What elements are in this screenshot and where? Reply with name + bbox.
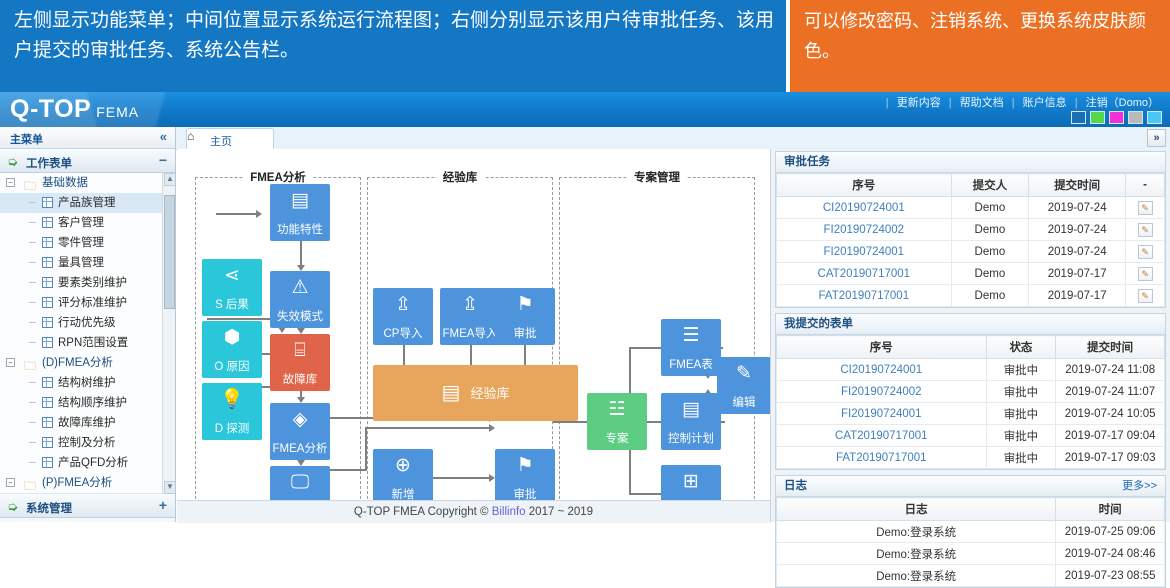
sidebar-item-label: 零件管理 [58,233,104,253]
edit-icon[interactable]: ✎ [1138,289,1153,303]
grid-icon [42,217,53,228]
arrow [629,347,661,349]
tree-connector [29,302,36,303]
cell-id[interactable]: CI20190724001 [777,359,987,381]
plus-icon: ⊕ [373,456,433,475]
expander-icon[interactable]: − [6,358,15,367]
arrow [300,241,302,265]
grid-icon [42,297,53,308]
tree-connector [29,342,36,343]
arrow [429,477,489,479]
theme-swatch-cyan[interactable] [1147,111,1162,124]
expander-icon[interactable]: − [6,478,15,487]
sidebar-item-label: 结构树维护 [58,373,116,393]
grid-icon [42,397,53,408]
sidebar-item-label: RPN范围设置 [58,333,128,353]
cell-action[interactable]: ✎ [1126,263,1165,285]
sidebar-group-toggle[interactable]: − [159,152,167,168]
edit-icon[interactable]: ✎ [1138,245,1153,259]
flow-box-label: D 探测 [202,423,262,436]
table-row[interactable]: FI20190724001 Demo 2019-07-24 ✎ [777,241,1165,263]
flow-box-project[interactable]: ☳ 专案 [587,393,647,450]
flow-box-fault-library[interactable]: ⌸ 故障库 [270,334,330,391]
flow-box-label: O 原因 [202,361,262,374]
cell-time: 2019-07-24 10:05 [1056,403,1165,425]
flag-icon: ⚑ [495,456,555,475]
sidebar-item-structure-order[interactable]: 结构顺序维护 [0,393,175,413]
flag-icon: ⚑ [495,295,555,314]
arrow [470,345,472,365]
flow-box-label: 故障库 [270,374,330,387]
flow-box-label: 专案 [587,433,647,446]
sidebar-group-label: 系统管理 [26,500,72,516]
column-header-id: 序号 [777,336,987,359]
flow-box-occurrence[interactable]: ⬢ O 原因 [202,321,262,378]
import-icon: ⇫ [440,295,500,314]
annotation-banner-right: 可以修改密码、注销系统、更换系统皮肤颜色。 [790,0,1170,92]
cell-submitter: Demo [951,197,1029,219]
scroll-up-icon[interactable]: ▲ [164,173,175,186]
footer: Q-TOP FMEA Copyright © Billinfo 2017 ~ 2… [177,500,770,523]
footer-prefix: Q-TOP FMEA Copyright © [354,506,492,518]
column-header-time: 时间 [1056,498,1165,521]
flow-box-label: 审批 [495,328,555,341]
flow-box-label: 控制计划 [661,433,721,446]
grid-icon [42,197,53,208]
sidebar-item-part[interactable]: 零件管理 [0,233,175,253]
flow-box-cp-import[interactable]: ⇫ CP导入 [373,288,433,345]
cell-time: 2019-07-24 [1029,197,1126,219]
tree-connector [29,382,36,383]
cell-id[interactable]: FI20190724002 [777,381,987,403]
flow-box-label: 编辑 [717,397,771,410]
approval-tasks-table: 序号 提交人 提交时间 - CI20190724001 Demo 2019-07… [776,173,1165,307]
cell-id[interactable]: FI20190724002 [777,219,952,241]
bus-icon: ▤ [270,191,330,210]
table-row[interactable]: CI20190724001 Demo 2019-07-24 ✎ [777,197,1165,219]
table-row[interactable]: FAT20190717001 Demo 2019-07-17 ✎ [777,285,1165,307]
tree-connector [29,242,36,243]
header-links: | 更新内容 | 帮助文档 | 账户信息 | 注销（Domo） [884,94,1162,110]
sidebar-item-score-standard[interactable]: 评分标准维护 [0,293,175,313]
edit-icon[interactable]: ✎ [1138,201,1153,215]
arrow [553,421,587,423]
panel-header: 审批任务 [776,152,1165,173]
arrow-folder-icon: ➭ [7,499,18,515]
cell-time: 2019-07-17 [1029,285,1126,307]
flow-box-label: CP导入 [373,328,433,341]
sitemap-icon: ⊞ [661,472,721,491]
cell-log-text: Demo:登录系统 [777,565,1056,587]
table-row[interactable]: CAT20190717001 审批中 2019-07-17 09:04 [777,425,1165,447]
screen-icon: 🖵 [270,473,330,492]
clipboard-icon: ▤ [661,400,721,419]
cell-action[interactable]: ✎ [1126,219,1165,241]
submitted-forms-table: 序号 状态 提交时间 CI20190724001 审批中 2019-07-24 … [776,335,1165,469]
grid-icon [42,437,53,448]
arrow [629,493,661,495]
sidebar-collapse-icon[interactable]: « [160,129,167,144]
log-more-link[interactable]: 更多>> [1122,476,1157,496]
table-row: Demo:登录系统 2019-07-23 08:55 [777,565,1165,587]
sidebar-item-label: 产品族管理 [58,193,116,213]
lane-title-experience-library: 经验库 [437,169,484,185]
cell-time: 2019-07-24 11:07 [1056,381,1165,403]
theme-swatch-gray[interactable] [1128,111,1143,124]
cell-id[interactable]: FAT20190717001 [777,447,987,469]
tree-node-pfmea[interactable]: − 🗀 (P)FMEA分析 [0,473,175,493]
cell-log-text: Demo:登录系统 [777,521,1056,543]
grid-icon [42,277,53,288]
table-row[interactable]: CAT20190717001 Demo 2019-07-17 ✎ [777,263,1165,285]
tree-connector [29,402,36,403]
lane-title-fmea-analysis: FMEA分析 [244,169,312,185]
cell-time: 2019-07-17 [1029,263,1126,285]
table-header-row: 序号 状态 提交时间 [777,336,1165,359]
cell-status: 审批中 [986,381,1056,403]
arrow [365,427,367,471]
edit-icon[interactable]: ✎ [1138,267,1153,281]
sidebar-item-label: 控制及分析 [58,433,116,453]
main-menu-header: 主菜单 « [0,127,176,149]
cell-status: 审批中 [986,425,1056,447]
folder-icon: 🗀 [24,476,36,494]
table-row[interactable]: FI20190724002 Demo 2019-07-24 ✎ [777,219,1165,241]
log-panel: 日志 更多>> 日志 时间 Demo:登录系统 2019-07-25 09:06 [775,475,1166,588]
panel-title: 日志 [784,476,807,496]
link-separator: | [1012,97,1015,109]
share-icon: ⋖ [202,266,262,285]
link-separator: | [949,97,952,109]
flow-box-failure-mode[interactable]: ⚠ 失效模式 [270,271,330,328]
cell-action[interactable]: ✎ [1126,197,1165,219]
sidebar-item-element-category[interactable]: 要素类别维护 [0,273,175,293]
application-window: 左侧显示功能菜单；中间位置显示系统运行流程图；右侧分别显示该用户待审批任务、该用… [0,0,1170,522]
sidebar-item-label: 故障库维护 [58,413,116,433]
list-icon: ☰ [661,326,721,345]
flow-box-fmea-analysis[interactable]: ◈ FMEA分析 [270,403,330,460]
cell-time: 2019-07-24 [1029,219,1126,241]
sidebar-item-action-priority[interactable]: 行动优先级 [0,313,175,333]
profile-icon: ☳ [587,400,647,419]
cell-time: 2019-07-24 [1029,241,1126,263]
theme-swatch-green[interactable] [1090,111,1105,124]
sidebar-scrollbar[interactable]: ▲ ▼ [162,173,175,494]
grid-icon [42,337,53,348]
cell-time: 2019-07-23 08:55 [1056,565,1165,587]
log-table: 日志 时间 Demo:登录系统 2019-07-25 09:06 Demo:登录… [776,497,1165,587]
link-separator: | [1075,97,1078,109]
link-account-info[interactable]: 账户信息 [1023,97,1067,109]
cell-log-text: Demo:登录系统 [777,543,1056,565]
warning-icon: ⚠ [270,278,330,297]
cell-action[interactable]: ✎ [1126,285,1165,307]
sidebar-item-product-family[interactable]: 产品族管理 [0,193,175,213]
column-header-id: 序号 [777,174,952,197]
logo-text: Q-TOP [10,95,91,123]
cell-id[interactable]: CAT20190717001 [777,263,952,285]
database-icon: ▤ [442,384,461,403]
tree-node-dfmea[interactable]: − 🗀 (D)FMEA分析 [0,353,175,373]
flow-box-label: 经验库 [470,387,509,400]
panel-header: 我提交的表单 [776,314,1165,335]
cell-time: 2019-07-25 09:06 [1056,521,1165,543]
table-row[interactable]: FAT20190717001 审批中 2019-07-17 09:03 [777,447,1165,469]
sidebar-item-label: 量具管理 [58,253,104,273]
flow-box-fmea-table[interactable]: ☰ FMEA表 [661,319,721,376]
bulb-icon: 💡 [202,390,262,409]
tree-connector [29,462,36,463]
column-header-time: 提交时间 [1056,336,1165,359]
cell-id[interactable]: FI20190724001 [777,403,987,425]
sidebar-item-control-analysis[interactable]: 控制及分析 [0,433,175,453]
sidebar-group-system-management[interactable]: ➭ 系统管理 + [0,494,175,518]
cell-action[interactable]: ✎ [1126,241,1165,263]
arrow-head [256,210,262,218]
tree-connector [29,422,36,423]
cell-id[interactable]: CAT20190717001 [777,425,987,447]
sidebar-item-rpn-range[interactable]: RPN范围设置 [0,333,175,353]
tree-connector [29,282,36,283]
sidebar-item-product-qfd[interactable]: 产品QFD分析 [0,453,175,473]
table-header-row: 序号 提交人 提交时间 - [777,174,1165,197]
panel-title: 我提交的表单 [784,314,853,334]
tree-connector [29,222,36,223]
cell-id[interactable]: FAT20190717001 [777,285,952,307]
panel-title: 审批任务 [784,152,830,172]
flow-box-add[interactable]: ⊕ 新增 [373,449,433,506]
tree-connector [29,262,36,263]
main-menu-title: 主菜单 [10,131,43,147]
submitted-forms-panel: 我提交的表单 序号 状态 提交时间 CI20190724001 审批中 2019… [775,313,1166,470]
flow-box-edit[interactable]: ✎ 编辑 [717,357,771,414]
flow-box-label: S 后果 [202,299,262,312]
flow-box-label: 失效模式 [270,311,330,324]
cell-id[interactable]: FI20190724001 [777,241,952,263]
theme-swatch-blue-dark[interactable] [1071,111,1086,124]
theme-swatch-magenta[interactable] [1109,111,1124,124]
flow-diagram: FMEA分析 经验库 专案管理 [177,149,771,522]
arrow [403,345,405,365]
table-row: Demo:登录系统 2019-07-24 08:46 [777,543,1165,565]
tree-connector [29,322,36,323]
panel-header: 日志 更多>> [776,476,1165,497]
import-icon: ⇫ [373,295,433,314]
column-header-status: 状态 [986,336,1056,359]
grid-icon [42,317,53,328]
scrollbar-thumb[interactable] [164,195,175,309]
annotation-banner-left: 左侧显示功能菜单；中间位置显示系统运行流程图；右侧分别显示该用户待审批任务、该用… [0,0,786,92]
cell-submitter: Demo [951,285,1029,307]
cell-time: 2019-07-17 09:03 [1056,447,1165,469]
link-updates[interactable]: 更新内容 [897,97,941,109]
tree-connector [29,442,36,443]
cell-time: 2019-07-17 09:04 [1056,425,1165,447]
flow-box-fmea-import[interactable]: ⇫ FMEA导入 [440,288,500,345]
sidebar-item-label: 行动优先级 [58,313,116,333]
layers-icon: ◈ [270,410,330,429]
bank-icon: ⌸ [270,341,330,360]
flow-box-severity[interactable]: ⋖ S 后果 [202,259,262,316]
cell-status: 审批中 [986,403,1056,425]
sidebar-item-structure-tree[interactable]: 结构树维护 [0,373,175,393]
tree-node-label: (P)FMEA分析 [42,473,112,493]
flow-box-control-plan[interactable]: ▤ 控制计划 [661,393,721,450]
cell-time: 2019-07-24 08:46 [1056,543,1165,565]
edit-icon[interactable]: ✎ [1138,223,1153,237]
tab-home-label: 主页 [210,133,232,149]
app-logo: Q-TOPFEMA [10,95,139,124]
footer-suffix: 2017 ~ 2019 [526,506,593,518]
sidebar-item-customer[interactable]: 客户管理 [0,213,175,233]
flow-box-detection[interactable]: 💡 D 探测 [202,383,262,440]
sidebar: ➭ 工作表单 − − 🗀 基础数据 产品族管理 客户管理 [0,149,176,522]
sidebar-item-label: 产品QFD分析 [58,453,128,473]
grid-icon [42,417,53,428]
cell-submitter: Demo [951,219,1029,241]
arrow [216,213,256,215]
arrow [524,345,526,365]
tree-connector [29,202,36,203]
table-row[interactable]: FI20190724002 审批中 2019-07-24 11:07 [777,381,1165,403]
cell-id[interactable]: CI20190724001 [777,197,952,219]
flow-box-approval-top[interactable]: ⚑ 审批 [495,288,555,345]
arrow-folder-icon: ➭ [7,154,18,170]
column-header-log: 日志 [777,498,1056,521]
cell-time: 2019-07-24 11:08 [1056,359,1165,381]
flow-box-label: 功能特性 [270,224,330,237]
grid-icon [42,257,53,268]
sidebar-group-label: 工作表单 [26,155,72,171]
sidebar-item-gauge[interactable]: 量具管理 [0,253,175,273]
scroll-down-icon[interactable]: ▼ [164,481,175,494]
sidebar-group-toggle[interactable]: + [159,497,167,513]
flow-box-functional-characteristic[interactable]: ▤ 功能特性 [270,184,330,241]
pencil-icon: ✎ [717,364,771,383]
grid-icon [42,237,53,248]
flow-box-label: FMEA表 [661,359,721,372]
cube-icon: ⬢ [202,328,262,347]
sidebar-item-label: 客户管理 [58,213,104,233]
right-panel-expand-icon[interactable]: » [1147,129,1166,147]
flow-box-experience-library[interactable]: ▤ 经验库 [373,365,578,421]
grid-icon [42,457,53,468]
lane-project-management [559,177,755,504]
table-row[interactable]: FI20190724001 审批中 2019-07-24 10:05 [777,403,1165,425]
tree-node-label: 基础数据 [42,173,88,193]
right-panel: 审批任务 序号 提交人 提交时间 - CI20190724001 Demo 20… [771,149,1170,522]
link-help-docs[interactable]: 帮助文档 [960,97,1004,109]
flow-box-label: FMEA导入 [440,328,500,341]
cell-status: 审批中 [986,359,1056,381]
tree-node-basic-data[interactable]: − 🗀 基础数据 [0,173,175,193]
theme-swatches [1071,111,1162,124]
table-header-row: 日志 时间 [777,498,1165,521]
arrow-head [489,424,495,432]
tab-home[interactable]: ⌂ 主页 [186,128,274,149]
expander-icon[interactable]: − [6,178,15,187]
sidebar-item-label: 结构顺序维护 [58,393,127,413]
arrow [365,427,489,429]
logo-subtext: FEMA [96,104,139,120]
sidebar-item-label: 要素类别维护 [58,273,127,293]
cell-submitter: Demo [951,241,1029,263]
sidebar-group-work-forms[interactable]: ➭ 工作表单 − [0,149,175,173]
column-header-submitter: 提交人 [951,174,1029,197]
link-separator: | [886,97,889,109]
sidebar-item-fault-library-d[interactable]: 故障库维护 [0,413,175,433]
table-row: Demo:登录系统 2019-07-25 09:06 [777,521,1165,543]
cell-submitter: Demo [951,263,1029,285]
footer-brand-link[interactable]: Billinfo [492,506,526,518]
flow-box-label: FMEA分析 [270,443,330,456]
lane-title-project-management: 专案管理 [628,169,686,185]
tree-node-label: (D)FMEA分析 [42,353,113,373]
grid-icon [42,377,53,388]
column-header-action: - [1126,174,1165,197]
cell-status: 审批中 [986,447,1056,469]
sidebar-tree: − 🗀 基础数据 产品族管理 客户管理 零件管理 [0,173,175,494]
app-header: Q-TOPFEMA | 更新内容 | 帮助文档 | 账户信息 | 注销（Domo… [0,92,1170,127]
sidebar-item-label: 评分标准维护 [58,293,127,313]
flow-box-approval-bottom[interactable]: ⚑ 审批 [495,449,555,506]
table-row[interactable]: CI20190724001 审批中 2019-07-24 11:08 [777,359,1165,381]
approval-tasks-panel: 审批任务 序号 提交人 提交时间 - CI20190724001 Demo 20… [775,151,1166,308]
link-logout[interactable]: 注销（Domo） [1086,97,1159,109]
column-header-time: 提交时间 [1029,174,1126,197]
